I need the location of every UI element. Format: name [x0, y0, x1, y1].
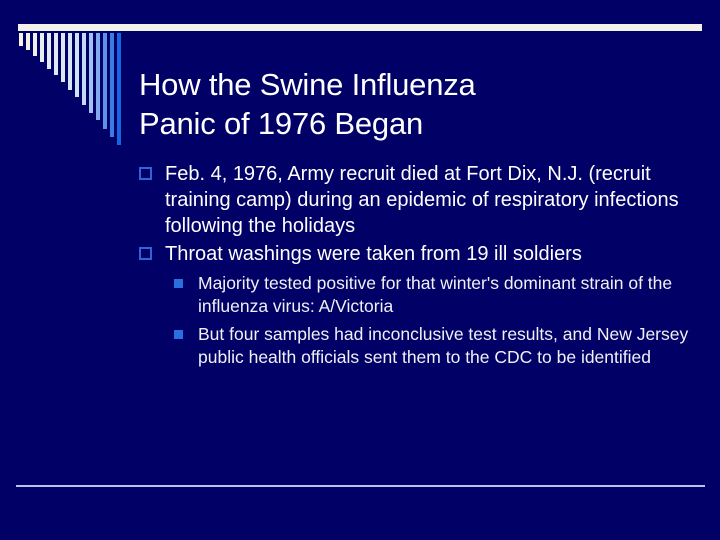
sub-bullet-text: But four samples had inconclusive test r…: [198, 323, 702, 369]
hollow-square-bullet-icon: [139, 247, 152, 260]
staircase-bar: [33, 33, 37, 56]
footer-divider: [16, 485, 705, 487]
slide-body-list: Feb. 4, 1976, Army recruit died at Fort …: [136, 161, 702, 369]
staircase-bar: [75, 33, 79, 97]
staircase-bar: [19, 33, 23, 46]
staircase-bar: [54, 33, 58, 75]
bullet-text: Throat washings were taken from 19 ill s…: [165, 241, 702, 267]
staircase-bar: [40, 33, 44, 62]
staircase-bar: [61, 33, 65, 82]
bullet-text: Feb. 4, 1976, Army recruit died at Fort …: [165, 161, 702, 239]
presentation-slide: How the Swine Influenza Panic of 1976 Be…: [0, 0, 720, 540]
staircase-bar: [26, 33, 30, 50]
staircase-bar: [82, 33, 86, 105]
filled-square-bullet-icon: [174, 279, 183, 288]
title-line-1: How the Swine Influenza: [139, 65, 699, 104]
staircase-bars-decoration: [19, 33, 129, 148]
slide-title: How the Swine Influenza Panic of 1976 Be…: [139, 65, 699, 143]
hollow-square-bullet-icon: [139, 167, 152, 180]
staircase-bar: [68, 33, 72, 90]
filled-square-bullet-icon: [174, 330, 183, 339]
sub-bullet-item: Majority tested positive for that winter…: [136, 272, 702, 318]
title-line-2: Panic of 1976 Began: [139, 104, 699, 143]
staircase-bar: [47, 33, 51, 69]
bullet-item: Throat washings were taken from 19 ill s…: [136, 241, 702, 267]
sub-bullet-text: Majority tested positive for that winter…: [198, 272, 702, 318]
top-rule: [18, 24, 702, 31]
staircase-bar: [110, 33, 114, 137]
staircase-bar: [89, 33, 93, 113]
staircase-bar: [96, 33, 100, 120]
staircase-bar: [103, 33, 107, 129]
bullet-item: Feb. 4, 1976, Army recruit died at Fort …: [136, 161, 702, 239]
staircase-bar: [117, 33, 121, 145]
sub-bullet-item: But four samples had inconclusive test r…: [136, 323, 702, 369]
